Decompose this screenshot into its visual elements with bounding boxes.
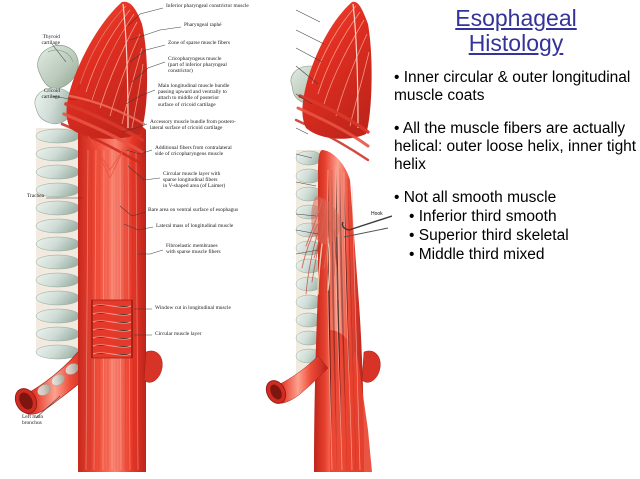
label-window-cut-longitudinal-muscle: Window cut in longitudinal muscle xyxy=(155,305,231,311)
label-cricoid-cartilage: Cricoid cartilage xyxy=(6,88,60,100)
label-fibroelastic-membranes: Fibroelastic membranes with sparse muscl… xyxy=(166,243,221,255)
bullet-subitem: • Middle third mixed xyxy=(409,246,640,264)
label-thyroid-cartilage: Thyroid cartilage xyxy=(6,34,60,46)
label-lateral-mass-longitudinal-muscle: Lateral mass of longitudinal muscle xyxy=(156,223,233,229)
page-title: Esophageal Histology xyxy=(392,6,640,56)
bullet-item: • All the muscle fibers are actually hel… xyxy=(394,120,640,174)
bullet-item: • Inner circular & outer longitudinal mu… xyxy=(394,69,640,105)
bullet-sublist: • Inferior third smooth • Superior third… xyxy=(409,208,640,264)
bullet-item: • Not all smooth muscle xyxy=(394,189,640,207)
label-trachea: Trachea xyxy=(6,193,44,199)
text-column: Esophageal Histology • Inner circular & … xyxy=(392,6,640,476)
pharyngeal-constrictor-fan-right xyxy=(302,2,371,139)
label-zone-sparse-muscle-fibers: Zone of sparse muscle fibers xyxy=(168,40,230,46)
bullet-subitem: • Inferior third smooth xyxy=(409,208,640,226)
label-accessory-muscle-bundle: Accessory muscle bundle from postero- la… xyxy=(150,119,236,131)
window-cut-left xyxy=(92,300,132,358)
label-circular-muscle-layer: Circular muscle layer xyxy=(155,331,201,337)
anatomy-illustration: Thyroid cartilage Cricoid cartilage Trac… xyxy=(0,0,392,479)
label-left-main-bronchus: Left main bronchus xyxy=(22,414,70,426)
slide-root: Thyroid cartilage Cricoid cartilage Trac… xyxy=(0,0,640,479)
label-hook: Hook xyxy=(371,211,383,217)
label-bare-area-ventral-surface: Bare area on ventral surface of esophagu… xyxy=(148,207,238,213)
right-figure xyxy=(262,2,392,472)
bullet-subitem: • Superior third skeletal xyxy=(409,227,640,245)
left-figure xyxy=(11,2,162,472)
title-line-2: Histology xyxy=(392,31,640,56)
label-main-longitudinal-muscle-bundle: Main longitudinal muscle bundle passing … xyxy=(158,83,229,108)
label-additional-fibers-contralateral: Additional fibers from contralateral sid… xyxy=(155,145,232,157)
label-pharyngeal-raphe: Pharyngeal raphé xyxy=(184,22,222,28)
label-circular-muscle-layer-laimer: Circular muscle layer with sparse longit… xyxy=(163,171,225,190)
title-line-1: Esophageal xyxy=(392,6,640,31)
trachea-rings xyxy=(36,128,82,359)
bullet-list: • Inner circular & outer longitudinal mu… xyxy=(392,69,640,264)
label-inferior-pharyngeal-constrictor: Inferior pharyngeal constrictor muscle xyxy=(166,3,249,9)
label-cricopharyngeus-muscle: Cricopharyngeus muscle (part of inferior… xyxy=(168,56,227,75)
